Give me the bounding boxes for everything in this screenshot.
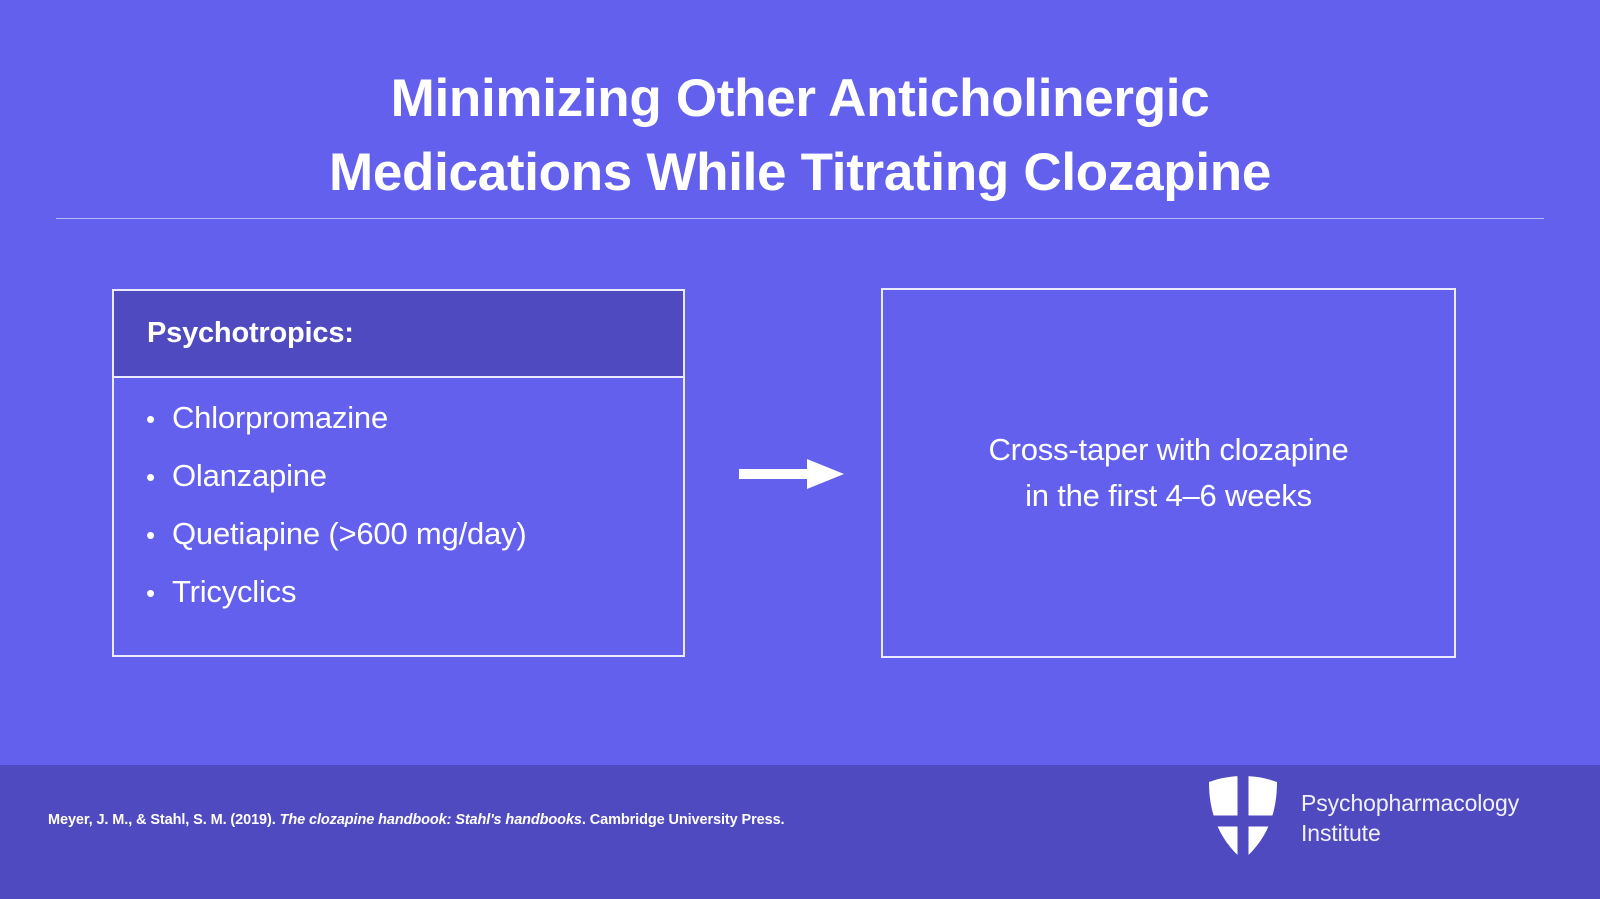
citation-prefix: Meyer, J. M., & Stahl, S. M. (2019). <box>48 812 280 828</box>
shield-logo-icon <box>1207 776 1279 860</box>
page-title-line-1: Minimizing Other Anticholinergic <box>0 62 1600 136</box>
page-title-line-2: Medications While Titrating Clozapine <box>0 136 1600 210</box>
psychotropics-card-header: Psychotropics: <box>114 291 683 378</box>
list-item: • Olanzapine <box>146 458 683 516</box>
list-item: • Chlorpromazine <box>146 400 683 458</box>
citation-title: The clozapine handbook: Stahl's handbook… <box>280 812 582 828</box>
psychotropics-card: Psychotropics: • Chlorpromazine • Olanza… <box>112 289 685 657</box>
list-item-label: Chlorpromazine <box>172 400 388 436</box>
brand-logo-line-2: Institute <box>1301 818 1519 848</box>
citation-suffix: . Cambridge University Press. <box>582 812 785 828</box>
cross-taper-line-1: Cross-taper with clozapine <box>988 427 1348 473</box>
right-arrow-icon <box>739 458 844 490</box>
slide-canvas: Minimizing Other Anticholinergic Medicat… <box>0 0 1600 899</box>
list-item-label: Olanzapine <box>172 458 327 494</box>
title-divider <box>56 218 1544 219</box>
psychotropics-list: • Chlorpromazine • Olanzapine • Quetiapi… <box>114 378 683 632</box>
brand-logo-line-1: Psychopharmacology <box>1301 788 1519 818</box>
list-item-label: Tricyclics <box>172 574 296 610</box>
cross-taper-line-2: in the first 4–6 weeks <box>988 473 1348 519</box>
list-item: • Quetiapine (>600 mg/day) <box>146 516 683 574</box>
bullet-dot-icon: • <box>146 464 172 490</box>
brand-logo-text: Psychopharmacology Institute <box>1301 788 1519 848</box>
bullet-dot-icon: • <box>146 580 172 606</box>
list-item: • Tricyclics <box>146 574 683 632</box>
citation: Meyer, J. M., & Stahl, S. M. (2019). The… <box>48 812 784 828</box>
list-item-label: Quetiapine (>600 mg/day) <box>172 516 527 552</box>
psychotropics-card-header-label: Psychotropics: <box>147 317 354 350</box>
brand-logo: Psychopharmacology Institute <box>1207 776 1519 860</box>
cross-taper-card-text: Cross-taper with clozapine in the first … <box>988 427 1348 519</box>
bullet-dot-icon: • <box>146 406 172 432</box>
bullet-dot-icon: • <box>146 522 172 548</box>
page-title: Minimizing Other Anticholinergic Medicat… <box>0 62 1600 210</box>
cross-taper-card: Cross-taper with clozapine in the first … <box>881 288 1456 658</box>
